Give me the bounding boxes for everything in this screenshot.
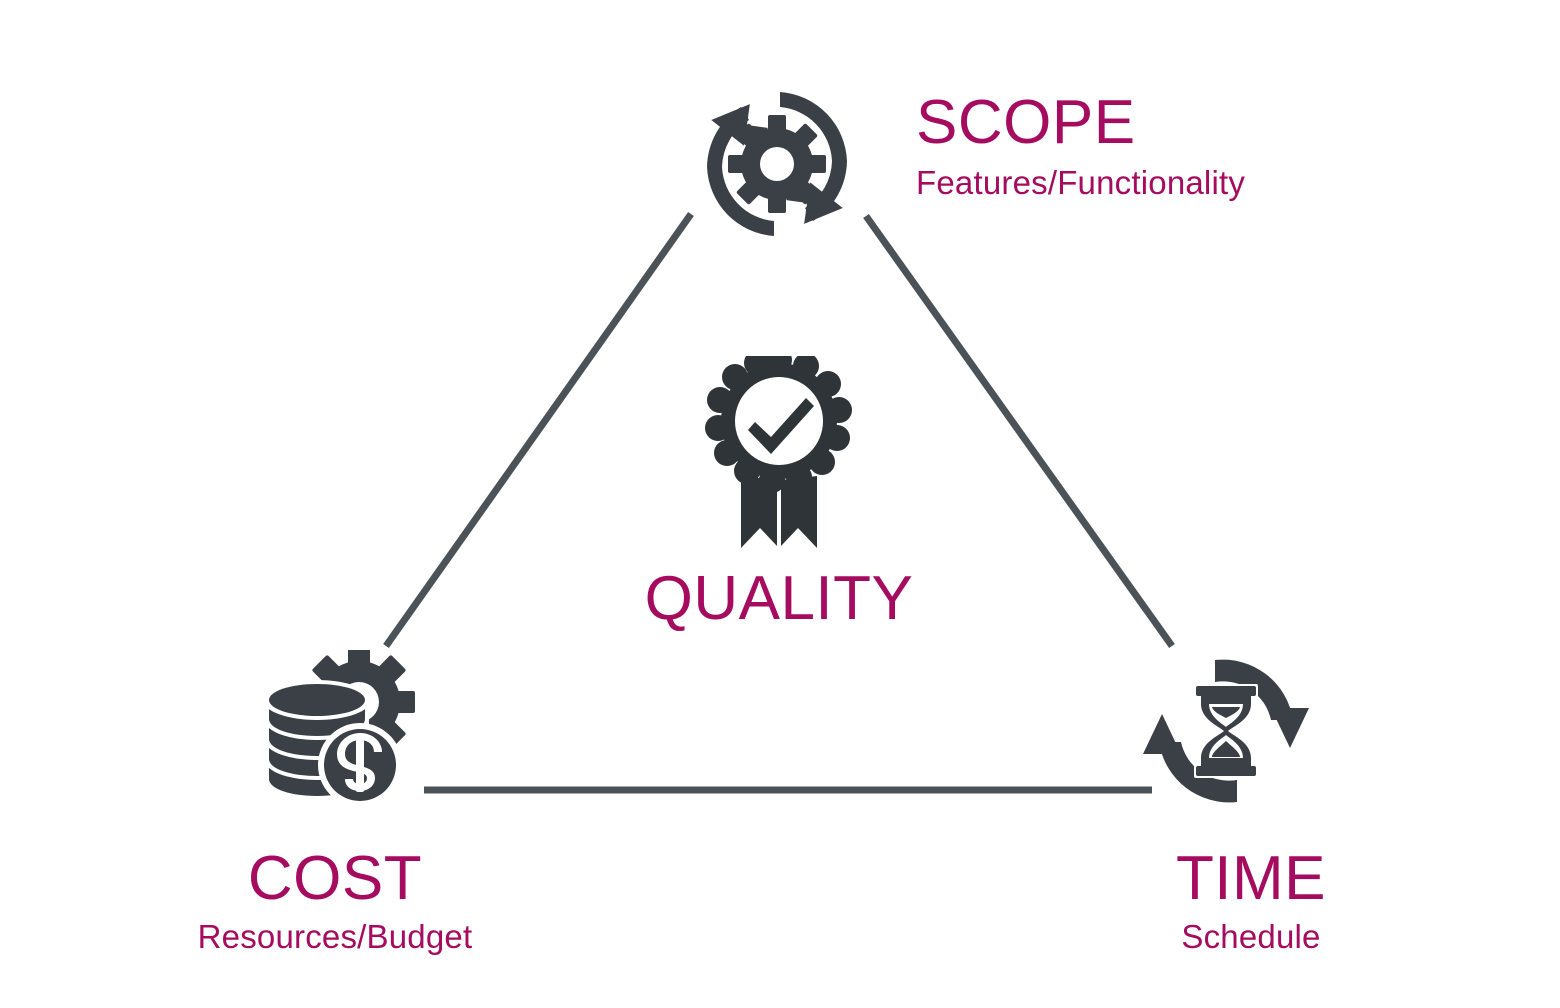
quality-title: QUALITY bbox=[599, 568, 959, 630]
gear-cycle-icon bbox=[697, 84, 857, 244]
cost-subtitle: Resources/Budget bbox=[175, 920, 495, 953]
scope-label-block: SCOPE Features/Functionality bbox=[916, 92, 1245, 199]
coins-gear-dollar-icon bbox=[262, 650, 420, 806]
quality-label-block: QUALITY bbox=[599, 568, 959, 630]
diagram-canvas: SCOPE Features/Functionality bbox=[0, 0, 1560, 1008]
time-title: TIME bbox=[1115, 848, 1387, 910]
cost-label-block: COST Resources/Budget bbox=[175, 848, 495, 953]
time-subtitle: Schedule bbox=[1115, 920, 1387, 953]
cost-title: COST bbox=[175, 848, 495, 910]
scope-title: SCOPE bbox=[916, 92, 1245, 154]
time-label-block: TIME Schedule bbox=[1115, 848, 1387, 953]
hourglass-cycle-icon bbox=[1143, 648, 1309, 814]
award-ribbon-check-icon bbox=[703, 356, 855, 552]
scope-subtitle: Features/Functionality bbox=[916, 166, 1245, 199]
